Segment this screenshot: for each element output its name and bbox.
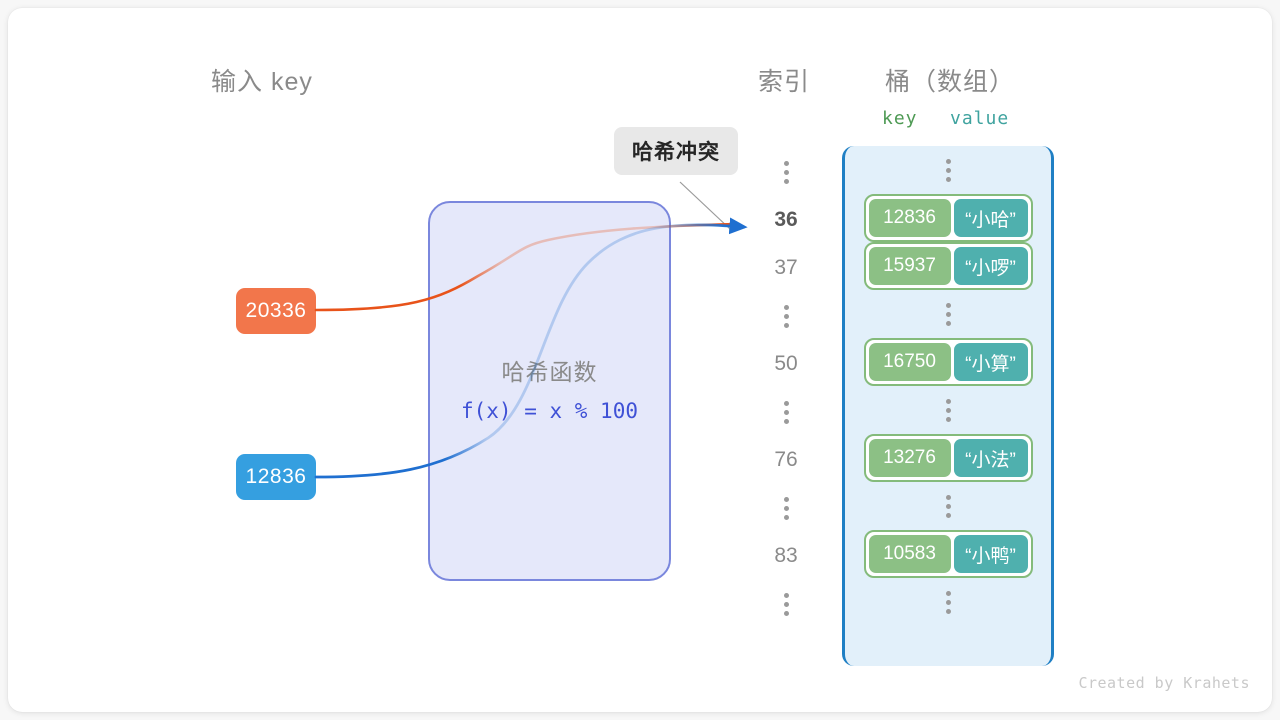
diagram-canvas: 输入 key 索引 桶（数组） key value 20336 12836 哈希… [0,0,1280,720]
vertical-ellipsis-icon [946,495,951,518]
heading-bucket: 桶（数组） [885,62,1015,98]
bucket-array: 12836“小哈”15937“小啰”16750“小算”13276“小法”1058… [842,146,1054,666]
hash-function-title: 哈希函数 [430,353,669,387]
vertical-ellipsis-icon [946,303,951,326]
entry-key: 10583 [869,535,951,573]
bucket-entry-12836[interactable]: 12836“小哈” [845,194,1051,242]
index-ellipsis [748,388,824,436]
collision-leader-line [680,182,730,229]
index-column: 3637507683 [748,148,824,628]
entry-value: “小啰” [954,247,1028,285]
bucket-entry-10583[interactable]: 10583“小鸭” [845,530,1051,578]
heading-value-column: value [950,108,1009,129]
heading-key-column: key [882,108,918,129]
bucket-entry-13276[interactable]: 13276“小法” [845,434,1051,482]
vertical-ellipsis-icon [784,497,789,520]
bucket-ellipsis [845,578,1051,626]
vertical-ellipsis-icon [784,161,789,184]
vertical-ellipsis-icon [946,591,951,614]
key-value-pair[interactable]: 12836“小哈” [864,194,1033,242]
entry-value: “小算” [954,343,1028,381]
index-value-37: 37 [748,244,824,292]
input-key-pill-20336[interactable]: 20336 [236,288,316,334]
key-value-pair[interactable]: 13276“小法” [864,434,1033,482]
index-value-36: 36 [748,196,824,244]
entry-key: 12836 [869,199,951,237]
entry-value: “小哈” [954,199,1028,237]
bucket-ellipsis [845,386,1051,434]
bucket-entry-15937[interactable]: 15937“小啰” [845,242,1051,290]
index-ellipsis [748,580,824,628]
index-ellipsis [748,484,824,532]
bucket-entry-16750[interactable]: 16750“小算” [845,338,1051,386]
index-ellipsis [748,148,824,196]
entry-key: 13276 [869,439,951,477]
entry-value: “小鸭” [954,535,1028,573]
vertical-ellipsis-icon [946,399,951,422]
vertical-ellipsis-icon [784,593,789,616]
input-key-pill-12836[interactable]: 12836 [236,454,316,500]
key-value-pair[interactable]: 16750“小算” [864,338,1033,386]
vertical-ellipsis-icon [784,305,789,328]
hash-function-box: 哈希函数 f(x) = x % 100 [428,201,671,581]
vertical-ellipsis-icon [946,159,951,182]
key-value-pair[interactable]: 15937“小啰” [864,242,1033,290]
collision-badge: 哈希冲突 [614,127,738,175]
credit-text: Created by Krahets [1078,674,1250,692]
bucket-ellipsis [845,146,1051,194]
hash-function-formula: f(x) = x % 100 [430,399,669,423]
index-value-83: 83 [748,532,824,580]
bucket-ellipsis [845,482,1051,530]
index-ellipsis [748,292,824,340]
vertical-ellipsis-icon [784,401,789,424]
entry-key: 15937 [869,247,951,285]
diagram-card: 输入 key 索引 桶（数组） key value 20336 12836 哈希… [8,8,1272,712]
bucket-ellipsis [845,290,1051,338]
index-value-76: 76 [748,436,824,484]
entry-key: 16750 [869,343,951,381]
entry-value: “小法” [954,439,1028,477]
index-value-50: 50 [748,340,824,388]
key-value-pair[interactable]: 10583“小鸭” [864,530,1033,578]
heading-input-key: 输入 key [211,62,313,98]
heading-index: 索引 [758,62,810,98]
